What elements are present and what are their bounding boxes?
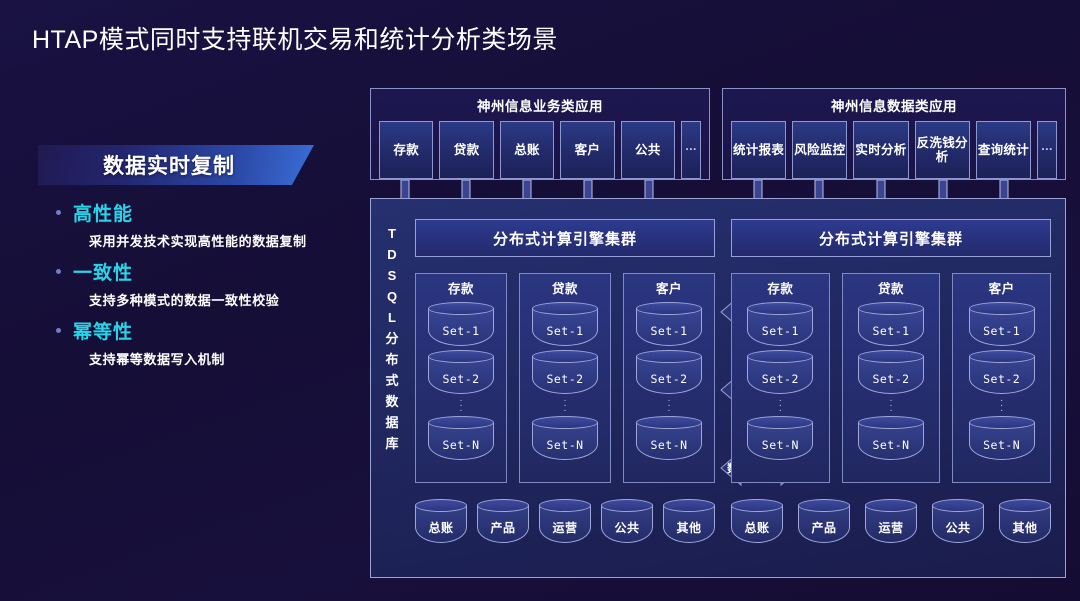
cylinder-top — [865, 499, 917, 512]
app-cell-label: 查询统计 — [978, 143, 1029, 157]
app-cell[interactable]: 客户 — [560, 121, 614, 179]
set-cylinder[interactable]: Set-1 — [969, 302, 1035, 346]
set-label: Set-1 — [636, 315, 702, 346]
bottom-cylinder-label: 公共 — [932, 512, 984, 543]
bottom-cylinder-label: 运营 — [539, 512, 591, 543]
bottom-cylinder[interactable]: 公共 — [601, 499, 653, 543]
set-cylinder[interactable]: Set-N — [428, 416, 494, 460]
set-column-title: 存款 — [767, 278, 793, 297]
bottom-cylinder[interactable]: 总账 — [415, 499, 467, 543]
feature-item: 高性能 采用并发技术实现高性能的数据复制 — [56, 199, 350, 250]
vertical-ellipsis-icon: ··· — [667, 398, 670, 413]
set-label: Set-N — [747, 429, 813, 460]
cluster-right: 分布式计算引擎集群 存款 Set-1 Set-2 ··· — [731, 219, 1051, 565]
set-column: 客户 Set-1 Set-2 ··· Se — [952, 273, 1051, 483]
vertical-ellipsis-icon: ··· — [889, 398, 892, 413]
app-cell[interactable]: 公共 — [621, 121, 675, 179]
cylinder-top — [932, 499, 984, 512]
vertical-ellipsis-icon: ··· — [779, 398, 782, 413]
bottom-cylinder[interactable]: 运营 — [865, 499, 917, 543]
architecture-diagram: 神州信息业务类应用 存款 贷款 总账 客户 公共 … 神州信息数据类应用 统计报… — [366, 88, 1066, 583]
set-label: Set-1 — [969, 315, 1035, 346]
app-cell[interactable]: 存款 — [379, 121, 433, 179]
set-cylinder[interactable]: Set-N — [747, 416, 813, 460]
set-column: 存款 Set-1 Set-2 ··· Se — [731, 273, 830, 483]
app-cell-label: 贷款 — [454, 143, 480, 157]
bottom-cylinder-label: 产品 — [798, 512, 850, 543]
vertical-ellipsis-icon: ··· — [563, 398, 566, 413]
bottom-cylinder[interactable]: 其他 — [999, 499, 1051, 543]
set-column: 存款 Set-1 Set-2 ··· Se — [415, 273, 507, 483]
bottom-cylinder-row: 总账 产品 运营 公共 — [415, 499, 715, 543]
bottom-cylinder-row: 总账 产品 运营 公共 — [731, 499, 1051, 543]
app-cell-label: 风险监控 — [794, 143, 845, 157]
cylinder-top — [798, 499, 850, 512]
cylinder-top — [747, 350, 813, 363]
cylinder-top — [969, 302, 1035, 315]
cylinder-top — [636, 416, 702, 429]
set-cylinder[interactable]: Set-2 — [858, 350, 924, 394]
app-box-business: 神州信息业务类应用 存款 贷款 总账 客户 公共 … — [370, 88, 710, 180]
set-column-title: 存款 — [448, 278, 474, 297]
bottom-cylinder[interactable]: 产品 — [477, 499, 529, 543]
set-label: Set-N — [636, 429, 702, 460]
set-label: Set-N — [428, 429, 494, 460]
tdsql-char: 式 — [381, 370, 403, 391]
app-cell[interactable]: 统计报表 — [731, 121, 786, 179]
feature-description: 支持多种模式的数据一致性校验 — [89, 290, 350, 309]
app-box-data: 神州信息数据类应用 统计报表 风险监控 实时分析 反洗钱分析 查询统计 … — [722, 88, 1066, 180]
set-label: Set-2 — [636, 363, 702, 394]
set-column-group: 存款 Set-1 Set-2 ··· Se — [731, 273, 1051, 483]
bottom-cylinder[interactable]: 公共 — [932, 499, 984, 543]
cylinder-top — [858, 416, 924, 429]
set-label: Set-N — [969, 429, 1035, 460]
tdsql-char: Q — [381, 286, 403, 307]
cylinder-top — [428, 350, 494, 363]
vertical-ellipsis-icon: ··· — [1000, 398, 1003, 413]
set-cylinder[interactable]: Set-1 — [636, 302, 702, 346]
cylinder-top — [969, 350, 1035, 363]
tdsql-char: 分 — [381, 328, 403, 349]
set-column-title: 客户 — [989, 278, 1015, 297]
feature-title: 幂等性 — [73, 317, 133, 344]
feature-description: 支持幂等数据写入机制 — [89, 349, 350, 368]
app-cell-more[interactable]: … — [1037, 121, 1057, 179]
bottom-cylinder[interactable]: 运营 — [539, 499, 591, 543]
bottom-cylinder-label: 总账 — [731, 512, 783, 543]
bottom-cylinder[interactable]: 产品 — [798, 499, 850, 543]
cylinder-top — [858, 350, 924, 363]
cylinder-top — [601, 499, 653, 512]
app-cell-label: 总账 — [514, 143, 540, 157]
cylinder-top — [999, 499, 1051, 512]
app-cell-label: 存款 — [393, 143, 419, 157]
bottom-cylinder-label: 其他 — [663, 512, 715, 543]
tdsql-char: T — [381, 223, 403, 244]
tdsql-char: 据 — [381, 412, 403, 433]
bullet-dot-icon — [56, 269, 61, 274]
tdsql-char: S — [381, 265, 403, 286]
feature-header: 高性能 — [56, 199, 350, 226]
section-banner: 数据实时复制 — [38, 145, 314, 185]
feature-list: 高性能 采用并发技术实现高性能的数据复制 一致性 支持多种模式的数据一致性校验 … — [0, 199, 350, 368]
set-cylinder[interactable]: Set-N — [532, 416, 598, 460]
feature-description: 采用并发技术实现高性能的数据复制 — [89, 231, 350, 250]
app-cell[interactable]: 反洗钱分析 — [915, 121, 970, 179]
feature-title: 一致性 — [73, 258, 133, 285]
bullet-dot-icon — [56, 328, 61, 333]
cylinder-top — [415, 499, 467, 512]
bottom-cylinder-label: 运营 — [865, 512, 917, 543]
bottom-cylinder[interactable]: 总账 — [731, 499, 783, 543]
cylinder-top — [532, 302, 598, 315]
set-cylinder[interactable]: Set-N — [636, 416, 702, 460]
set-column: 贷款 Set-1 Set-2 ··· Se — [842, 273, 941, 483]
tdsql-char: 库 — [381, 433, 403, 454]
app-cell-row: 存款 贷款 总账 客户 公共 … — [379, 121, 701, 179]
app-cell[interactable]: 实时分析 — [853, 121, 908, 179]
set-label: Set-2 — [747, 363, 813, 394]
app-cell-row: 统计报表 风险监控 实时分析 反洗钱分析 查询统计 … — [731, 121, 1057, 179]
tdsql-char: 布 — [381, 349, 403, 370]
app-cell[interactable]: 查询统计 — [976, 121, 1031, 179]
tdsql-vertical-label: T D S Q L 分 布 式 数 据 库 — [381, 223, 403, 455]
app-cell[interactable]: 贷款 — [439, 121, 493, 179]
set-column-group: 存款 Set-1 Set-2 ··· Se — [415, 273, 715, 483]
bottom-cylinder-label: 产品 — [477, 512, 529, 543]
page-title: HTAP模式同时支持联机交易和统计分析类场景 — [32, 20, 558, 56]
engine-cluster-bar: 分布式计算引擎集群 — [415, 219, 715, 257]
cylinder-top — [663, 499, 715, 512]
set-label: Set-2 — [428, 363, 494, 394]
banner-label: 数据实时复制 — [38, 145, 314, 185]
set-cylinder[interactable]: Set-2 — [969, 350, 1035, 394]
bullet-dot-icon — [56, 210, 61, 215]
tdsql-char: L — [381, 307, 403, 328]
set-label: Set-2 — [532, 363, 598, 394]
left-feature-panel: 数据实时复制 高性能 采用并发技术实现高性能的数据复制 一致性 支持多种模式的数… — [0, 145, 350, 376]
vertical-ellipsis-icon: ··· — [459, 398, 462, 413]
tdsql-panel: T D S Q L 分 布 式 数 据 库 分布式计算引擎集群 存款 Set-1 — [370, 198, 1066, 578]
set-column: 贷款 Set-1 Set-2 ··· Se — [519, 273, 611, 483]
bottom-cylinder-label: 其他 — [999, 512, 1051, 543]
cylinder-top — [477, 499, 529, 512]
set-column-title: 客户 — [656, 278, 682, 297]
cylinder-top — [532, 416, 598, 429]
set-label: Set-1 — [428, 315, 494, 346]
cylinder-top — [636, 350, 702, 363]
cylinder-top — [969, 416, 1035, 429]
set-cylinder[interactable]: Set-2 — [428, 350, 494, 394]
set-label: Set-1 — [532, 315, 598, 346]
feature-title: 高性能 — [73, 199, 133, 226]
set-cylinder[interactable]: Set-2 — [747, 350, 813, 394]
cylinder-top — [858, 302, 924, 315]
bottom-cylinder[interactable]: 其他 — [663, 499, 715, 543]
cylinder-top — [532, 350, 598, 363]
app-cell-label: 公共 — [635, 143, 661, 157]
set-column: 客户 Set-1 Set-2 ··· Se — [623, 273, 715, 483]
cylinder-top — [747, 416, 813, 429]
app-box-title: 神州信息数据类应用 — [731, 95, 1057, 115]
app-cell-label: 客户 — [575, 143, 601, 157]
cylinder-top — [428, 302, 494, 315]
set-label: Set-1 — [747, 315, 813, 346]
set-cylinder[interactable]: Set-1 — [532, 302, 598, 346]
engine-cluster-bar: 分布式计算引擎集群 — [731, 219, 1051, 257]
set-cylinder[interactable]: Set-1 — [747, 302, 813, 346]
set-label: Set-2 — [858, 363, 924, 394]
app-cell-label: 反洗钱分析 — [916, 136, 969, 164]
app-cell[interactable]: 总账 — [500, 121, 554, 179]
set-label: Set-N — [858, 429, 924, 460]
set-label: Set-2 — [969, 363, 1035, 394]
set-cylinder[interactable]: Set-N — [969, 416, 1035, 460]
set-label: Set-N — [532, 429, 598, 460]
cylinder-top — [539, 499, 591, 512]
tdsql-char: 数 — [381, 391, 403, 412]
set-cylinder[interactable]: Set-1 — [858, 302, 924, 346]
set-cylinder[interactable]: Set-N — [858, 416, 924, 460]
feature-header: 一致性 — [56, 258, 350, 285]
set-cylinder[interactable]: Set-2 — [532, 350, 598, 394]
set-label: Set-1 — [858, 315, 924, 346]
cylinder-top — [731, 499, 783, 512]
app-cell[interactable]: 风险监控 — [792, 121, 847, 179]
set-cylinder[interactable]: Set-1 — [428, 302, 494, 346]
feature-header: 幂等性 — [56, 317, 350, 344]
app-box-title: 神州信息业务类应用 — [379, 95, 701, 115]
set-column-title: 贷款 — [552, 278, 578, 297]
bottom-cylinder-label: 公共 — [601, 512, 653, 543]
bottom-cylinder-label: 总账 — [415, 512, 467, 543]
feature-item: 一致性 支持多种模式的数据一致性校验 — [56, 258, 350, 309]
cluster-left: 分布式计算引擎集群 存款 Set-1 Set-2 ··· — [415, 219, 715, 565]
set-column-title: 贷款 — [878, 278, 904, 297]
cylinder-top — [747, 302, 813, 315]
app-cell-more[interactable]: … — [681, 121, 701, 179]
tdsql-char: D — [381, 244, 403, 265]
set-cylinder[interactable]: Set-2 — [636, 350, 702, 394]
app-cell-label: 统计报表 — [733, 143, 784, 157]
cylinder-top — [428, 416, 494, 429]
feature-item: 幂等性 支持幂等数据写入机制 — [56, 317, 350, 368]
cylinder-top — [636, 302, 702, 315]
app-cell-label: 实时分析 — [855, 143, 906, 157]
